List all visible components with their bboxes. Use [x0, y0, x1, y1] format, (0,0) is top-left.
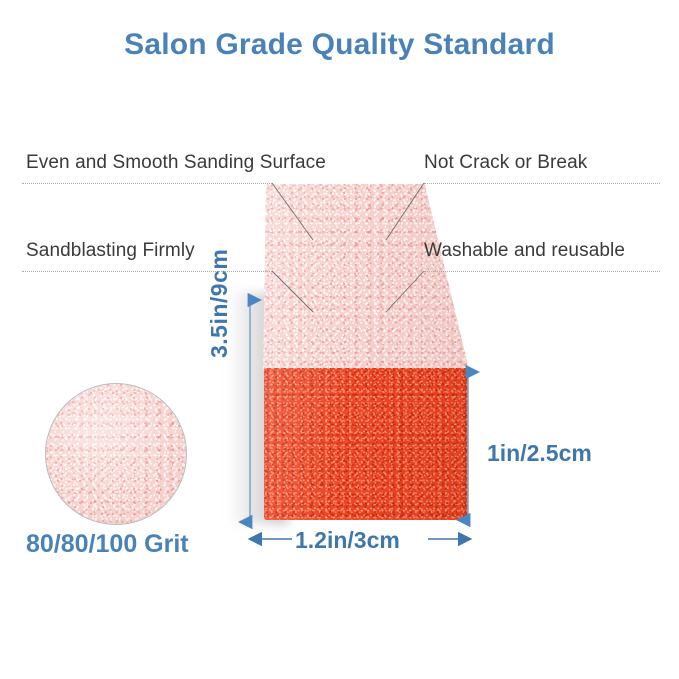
callout-not-crack: Not Crack or Break — [424, 152, 587, 174]
width-dimension-label: 1.2in/3cm — [295, 527, 400, 554]
callout-sandblasting: Sandblasting Firmly — [26, 240, 195, 262]
leader-dotline-not-crack — [424, 183, 660, 184]
block-bottom-red-surface — [264, 368, 468, 520]
grit-closeup-circle — [45, 383, 187, 525]
grit-closeup-sheen — [46, 384, 186, 524]
leader-dotline-even-smooth — [22, 183, 272, 184]
height-dimension-label: 3.5in/9cm — [206, 249, 233, 358]
sanding-block-illustration — [263, 184, 469, 520]
thickness-dimension-label: 1in/2.5cm — [487, 440, 592, 467]
block-bottom-sheen — [264, 368, 468, 520]
callout-washable: Washable and reusable — [424, 240, 625, 262]
grit-label: 80/80/100 Grit — [26, 530, 189, 559]
leader-dotline-sandblasting — [22, 271, 272, 272]
product-infographic: Salon Grade Quality Standard Even and Sm… — [0, 0, 679, 679]
page-title: Salon Grade Quality Standard — [0, 28, 679, 62]
block-top-sheen — [263, 184, 469, 370]
block-top-pink-surface — [263, 184, 469, 370]
callout-even-smooth: Even and Smooth Sanding Surface — [26, 152, 326, 174]
leader-dotline-washable — [424, 271, 660, 272]
